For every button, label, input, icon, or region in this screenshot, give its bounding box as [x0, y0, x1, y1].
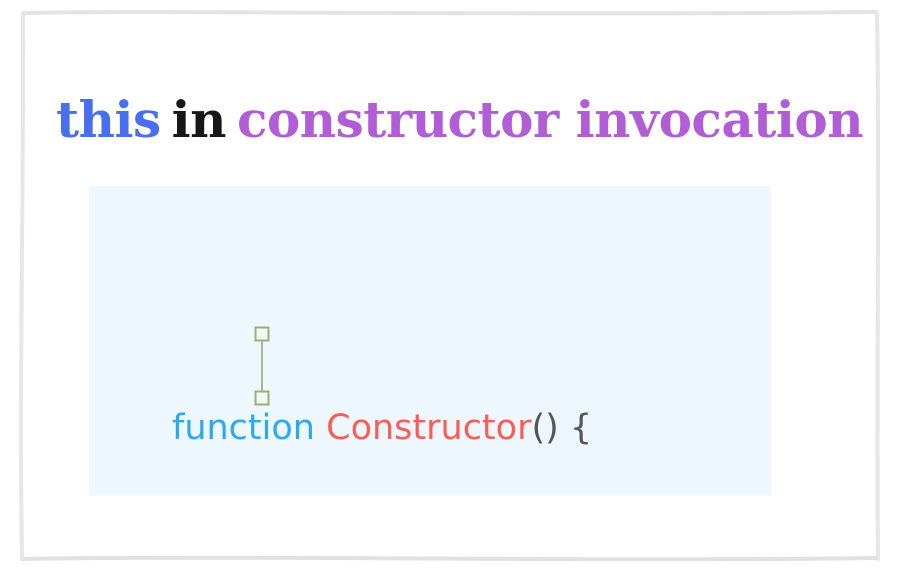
code-line-1: function Constructor() { — [172, 398, 735, 458]
code-block: function Constructor() { this; } var obj… — [172, 218, 735, 574]
title-word-in: in — [172, 90, 226, 149]
slide-canvas: thisinconstructor invocation function Co… — [0, 0, 898, 574]
token-punct-open-brace: () { — [531, 408, 592, 448]
title-word-this: this — [56, 90, 161, 149]
title-word-constructor-invocation: constructor invocation — [237, 90, 863, 149]
token-type-constructor: Constructor — [326, 408, 531, 448]
code-panel: function Constructor() { this; } var obj… — [89, 186, 771, 495]
token-keyword-function: function — [172, 408, 315, 448]
page-title: thisinconstructor invocation — [56, 89, 863, 151]
